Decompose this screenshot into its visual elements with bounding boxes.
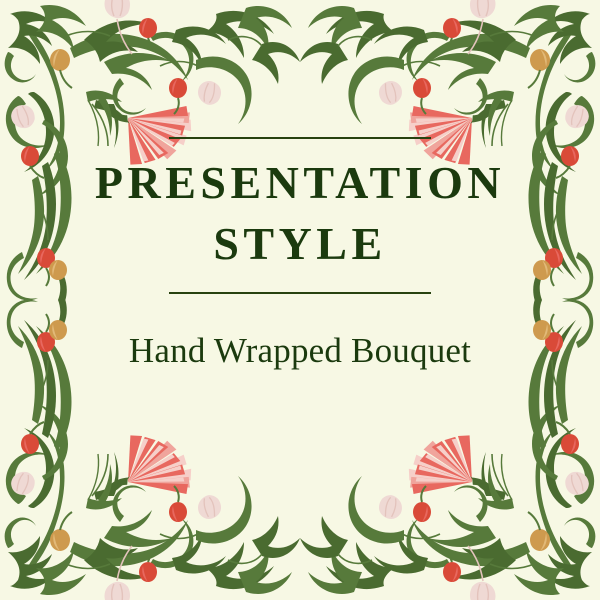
presentation-style-card: PRESENTATION STYLE Hand Wrapped Bouquet xyxy=(0,0,600,600)
card-content: PRESENTATION STYLE Hand Wrapped Bouquet xyxy=(0,0,600,600)
divider-top xyxy=(169,137,431,139)
divider-bottom xyxy=(169,292,431,294)
page-title: PRESENTATION STYLE xyxy=(40,153,560,274)
page-subtitle: Hand Wrapped Bouquet xyxy=(90,330,510,373)
